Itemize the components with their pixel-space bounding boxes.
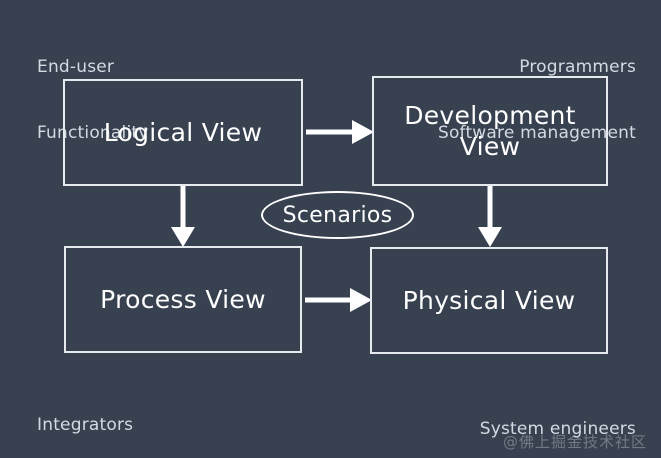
view-box-logical-label: Logical View — [104, 117, 262, 148]
view-box-process[interactable]: Process View — [64, 246, 302, 353]
view-box-development[interactable]: Development View — [372, 76, 608, 186]
arrow-logical-to-process — [171, 186, 195, 247]
view-box-process-label: Process View — [100, 284, 266, 315]
arrow-process-to-physical — [305, 288, 372, 312]
annotation-top-left-line-1: End-user — [37, 56, 149, 78]
view-box-logical[interactable]: Logical View — [63, 79, 303, 186]
annotation-bottom-left-line-1: Integrators — [37, 414, 147, 436]
view-box-physical-label: Physical View — [403, 285, 576, 316]
view-box-physical[interactable]: Physical View — [370, 247, 608, 354]
annotation-bottom-left: Integrators Performance Scalability — [37, 370, 147, 458]
watermark: @佛上掘金技术社区 — [503, 431, 647, 452]
scenarios-ellipse[interactable]: Scenarios — [261, 191, 414, 239]
arrow-logical-to-development — [306, 120, 374, 144]
scenarios-label: Scenarios — [283, 203, 393, 228]
diagram-canvas: End-user Functionality Programmers Softw… — [0, 0, 661, 458]
view-box-development-label: Development View — [404, 100, 576, 162]
arrow-development-to-physical — [478, 186, 502, 247]
annotation-top-right-line-1: Programmers — [438, 56, 636, 78]
